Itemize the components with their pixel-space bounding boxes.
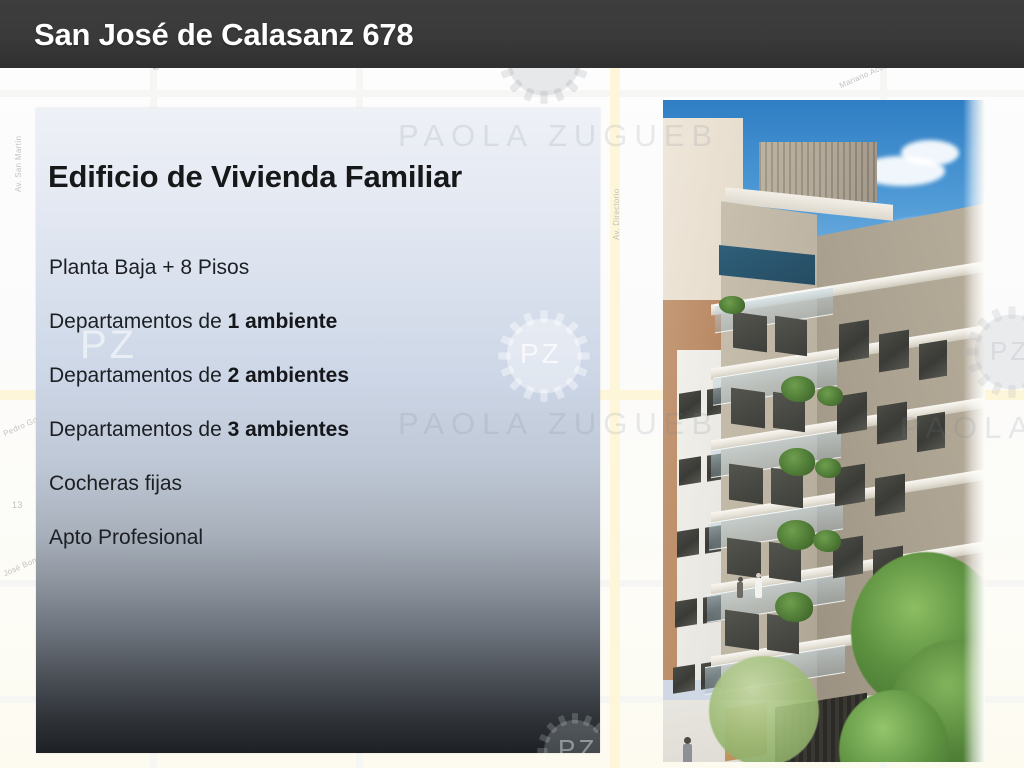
render-window — [875, 474, 905, 517]
watermark-monogram: PZ — [558, 734, 597, 753]
list-item-emphasis: 3 ambientes — [228, 418, 349, 441]
render-window — [917, 412, 945, 452]
render-window — [839, 320, 869, 363]
render-window — [877, 402, 907, 445]
render-window — [725, 610, 759, 651]
render-person — [683, 744, 692, 762]
render-window — [919, 340, 947, 380]
render-window — [727, 538, 761, 579]
info-panel: PZ — [36, 108, 600, 753]
list-item-text: Departamentos de — [49, 418, 228, 441]
list-item-text: Apto Profesional — [49, 526, 203, 549]
list-item-text: Departamentos de — [49, 364, 228, 387]
list-item-text: Planta Baja + 8 Pisos — [49, 256, 249, 279]
map-label: 13 — [12, 500, 23, 510]
render-balcony-plant — [719, 296, 745, 314]
render-balcony-plant — [775, 592, 813, 622]
render-edge-fade — [963, 100, 985, 762]
list-item: Departamentos de 1 ambiente — [49, 310, 589, 334]
render-window — [879, 330, 909, 373]
render-balcony-plant — [817, 386, 843, 406]
render-cloud — [901, 140, 959, 166]
header-bar: San José de Calasanz 678 — [0, 0, 1024, 68]
list-item: Apto Profesional — [49, 526, 589, 550]
render-window — [679, 390, 701, 419]
list-item-emphasis: 1 ambiente — [228, 310, 338, 333]
list-item: Departamentos de 2 ambientes — [49, 364, 589, 388]
render-tree — [709, 656, 819, 762]
list-item: Cocheras fijas — [49, 472, 589, 496]
list-item-emphasis: 2 ambientes — [228, 364, 349, 387]
render-balcony-plant — [813, 530, 841, 552]
list-item-text: Departamentos de — [49, 310, 228, 333]
feature-list: Planta Baja + 8 Pisos Departamentos de 1… — [49, 256, 589, 580]
slide-root: Membrillar Av. San Pedrito Condarco Mari… — [0, 0, 1024, 768]
render-person — [755, 578, 762, 598]
render-window — [675, 598, 697, 627]
render-window — [673, 664, 695, 693]
render-window — [733, 312, 767, 353]
list-item-text: Cocheras fijas — [49, 472, 182, 495]
watermark-logo-lockup: PZ PAOLA ZUGUE INMUEBLES INDUSTR — [484, 708, 600, 753]
render-balcony-plant — [779, 448, 815, 476]
render-balcony-plant — [781, 376, 815, 402]
render-balcony-plant — [815, 458, 841, 478]
render-window — [677, 528, 699, 557]
header-title: San José de Calasanz 678 — [34, 17, 413, 53]
list-item: Departamentos de 3 ambientes — [49, 418, 589, 442]
map-label: Av. San Martín — [14, 136, 23, 192]
render-window — [729, 464, 763, 505]
building-render-image — [663, 100, 985, 762]
render-window — [775, 316, 807, 356]
render-window — [731, 388, 765, 429]
render-person — [737, 582, 743, 598]
page-title: Edificio de Vivienda Familiar — [48, 159, 462, 195]
map-label: Av. Directorio — [612, 189, 621, 240]
list-item: Planta Baja + 8 Pisos — [49, 256, 589, 280]
render-window — [679, 456, 701, 485]
gear-icon — [532, 708, 600, 753]
render-balcony-plant — [777, 520, 815, 550]
